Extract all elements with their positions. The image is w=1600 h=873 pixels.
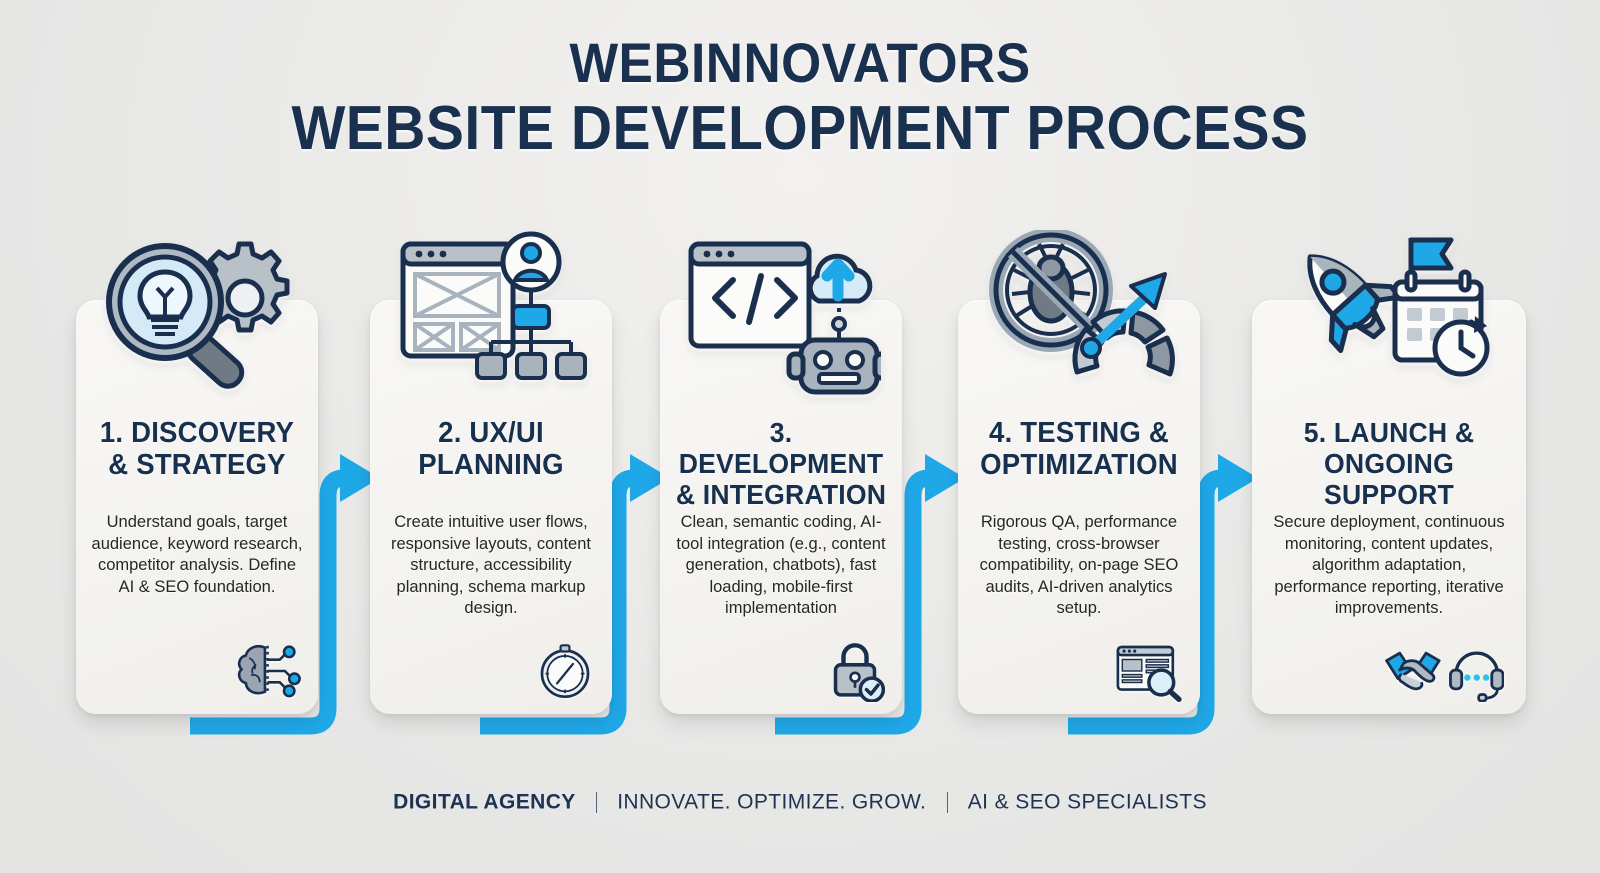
card-heading: 4. TESTING & OPTIMIZATION: [970, 418, 1189, 482]
no-bug-speedometer-icon: [979, 230, 1179, 400]
footer-tagline: INNOVATE. OPTIMIZE. GROW.: [617, 790, 926, 813]
card-body-text: Clean, semantic coding, AI-tool integrat…: [674, 512, 888, 620]
card-body-text: Rigorous QA, performance testing, cross-…: [972, 512, 1186, 620]
step-card-discovery[interactable]: 1. DISCOVERY & STRATEGY Understand goals…: [76, 300, 318, 714]
footer-separator-1: [596, 792, 597, 813]
step-card-development[interactable]: 3. DEVELOPMENT & INTEGRATION Clean, sema…: [660, 300, 902, 714]
compass-icon: [526, 640, 604, 702]
footer-tagline-bar: DIGITAL AGENCY INNOVATE. OPTIMIZE. GROW.…: [0, 790, 1600, 814]
infographic-canvas: WEBINNOVATORS WEBSITE DEVELOPMENT PROCES…: [0, 0, 1600, 873]
step-card-launch-support[interactable]: 5. LAUNCH & ONGOING SUPPORT Secure deplo…: [1252, 300, 1526, 714]
rocket-flag-calendar-clock-icon: [1279, 230, 1499, 400]
brain-circuit-icon: [232, 640, 310, 702]
wireframe-user-sitemap-icon: [391, 230, 591, 400]
card-heading: 2. UX/UI PLANNING: [382, 418, 601, 482]
page-title: WEBINNOVATORS WEBSITE DEVELOPMENT PROCES…: [0, 34, 1600, 160]
step-card-uxui-planning[interactable]: 2. UX/UI PLANNING Create intuitive user …: [370, 300, 612, 714]
card-body-text: Create intuitive user flows, responsive …: [384, 512, 598, 620]
card-body-text: Secure deployment, continuous monitoring…: [1266, 512, 1512, 620]
handshake-headset-icon: [1380, 640, 1504, 702]
title-line-primary: WEBINNOVATORS: [64, 34, 1536, 91]
step-card-testing[interactable]: 4. TESTING & OPTIMIZATION Rigorous QA, p…: [958, 300, 1200, 714]
card-body-text: Understand goals, target audience, keywo…: [90, 512, 304, 598]
magnifier-lightbulb-gear-icon: [97, 230, 297, 400]
footer-specialty: AI & SEO SPECIALISTS: [968, 790, 1207, 813]
title-line-secondary: WEBSITE DEVELOPMENT PROCESS: [64, 97, 1536, 160]
card-heading: 1. DISCOVERY & STRATEGY: [88, 418, 307, 482]
card-heading: 5. LAUNCH & ONGOING SUPPORT: [1265, 418, 1514, 510]
card-heading: 3. DEVELOPMENT & INTEGRATION: [672, 418, 891, 510]
seo-audit-magnifier-icon: [1104, 640, 1192, 702]
footer-separator-2: [947, 792, 948, 813]
padlock-check-icon: [816, 640, 894, 702]
footer-agency-label: DIGITAL AGENCY: [393, 790, 576, 813]
code-window-cloud-robot-icon: [681, 230, 881, 400]
